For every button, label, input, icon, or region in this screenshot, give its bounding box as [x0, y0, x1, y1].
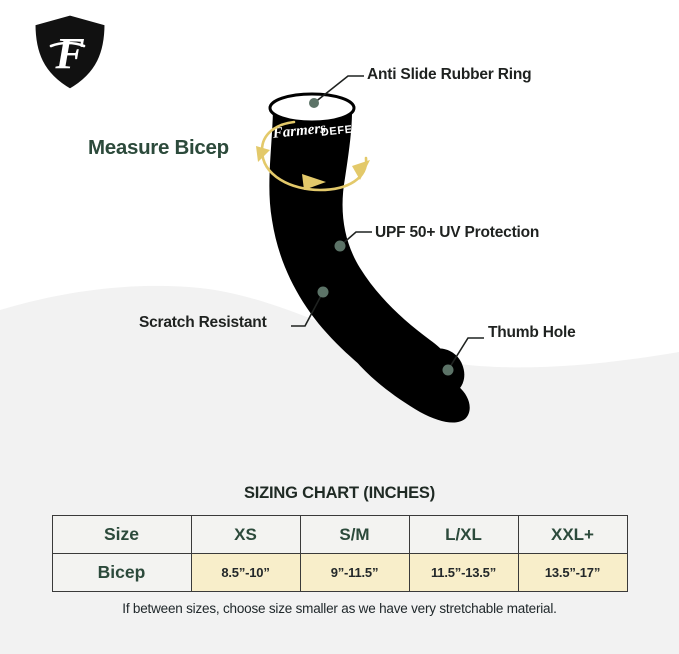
- table-header-size: Size: [52, 516, 191, 554]
- dot-upf: [335, 241, 346, 252]
- callout-label-upf-protection: UPF 50+ UV Protection: [375, 224, 539, 242]
- sizing-chart-section: SIZING CHART (INCHES) Size XS S/M L/XL X…: [0, 484, 679, 616]
- sleeve-top-opening: [270, 94, 354, 122]
- table-header-xxl: XXL+: [518, 516, 627, 554]
- callout-label-thumb-hole: Thumb Hole: [488, 324, 576, 342]
- sizing-chart-title: SIZING CHART (INCHES): [0, 484, 679, 503]
- table-cell-bicep-lxl: 11.5”-13.5”: [409, 554, 518, 592]
- table-header-sm: S/M: [300, 516, 409, 554]
- svg-text:F: F: [54, 29, 84, 78]
- sizing-chart-table: Size XS S/M L/XL XXL+ Bicep 8.5”-10” 9”-…: [52, 515, 628, 592]
- shield-logo-icon: F: [28, 12, 112, 92]
- sleeve-body: [269, 110, 469, 423]
- table-header-xs: XS: [191, 516, 300, 554]
- measure-bicep-label: Measure Bicep: [88, 136, 229, 160]
- table-cell-bicep-xxl: 13.5”-17”: [518, 554, 627, 592]
- callout-label-anti-slide-rubber-ring: Anti Slide Rubber Ring: [367, 66, 531, 84]
- dot-anti-slide: [309, 98, 319, 108]
- table-row: Bicep 8.5”-10” 9”-11.5” 11.5”-13.5” 13.5…: [52, 554, 627, 592]
- table-header-row: Size XS S/M L/XL XXL+: [52, 516, 627, 554]
- table-cell-bicep-sm: 9”-11.5”: [300, 554, 409, 592]
- table-header-lxl: L/XL: [409, 516, 518, 554]
- sizing-chart-note: If between sizes, choose size smaller as…: [0, 601, 679, 616]
- table-cell-bicep-xs: 8.5”-10”: [191, 554, 300, 592]
- callout-label-scratch-resistant: Scratch Resistant: [139, 314, 267, 332]
- table-row-label-bicep: Bicep: [52, 554, 191, 592]
- dot-scratch: [318, 287, 329, 298]
- product-infographic: F Farmers DEFENSE: [0, 0, 679, 654]
- dot-thumb: [443, 365, 454, 376]
